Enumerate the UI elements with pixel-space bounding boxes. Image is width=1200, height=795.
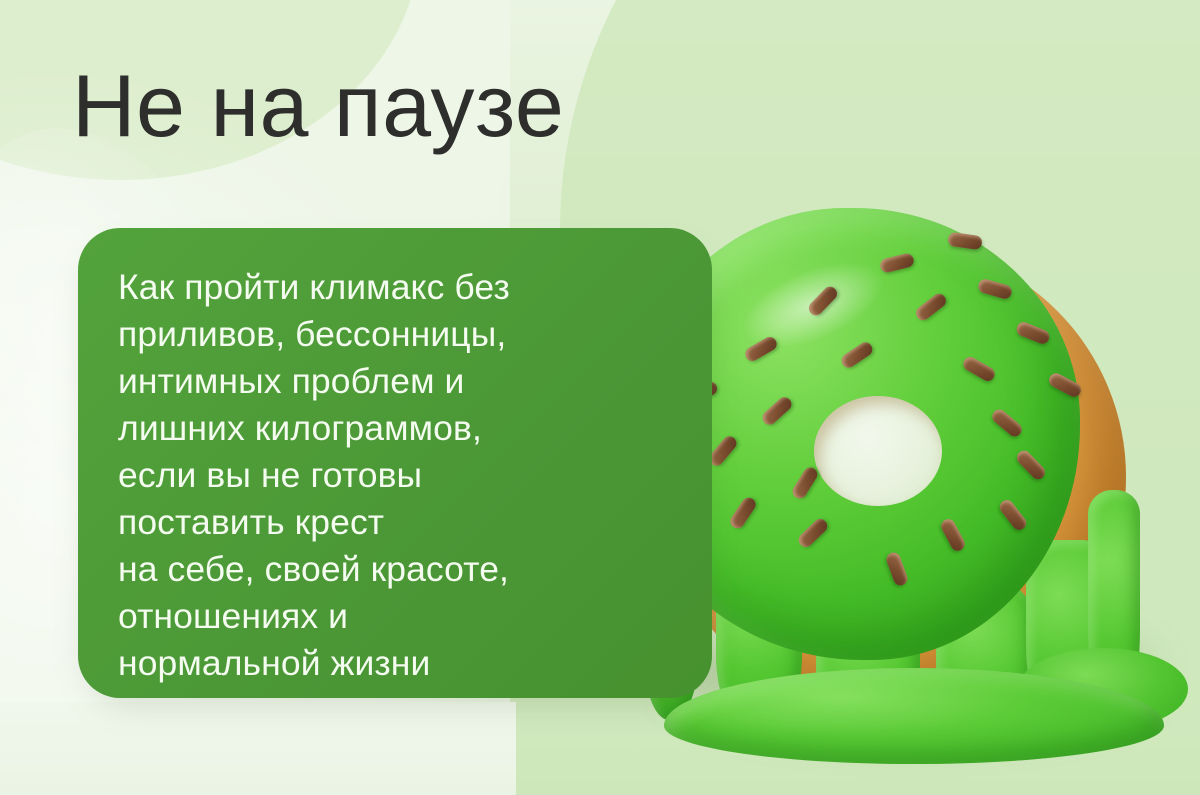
text-card-line: если вы не готовы xyxy=(118,452,684,499)
promo-banner: Не на паузе Как пройти климакс безприлив… xyxy=(0,0,1200,795)
text-card-line: отношениях и xyxy=(118,593,684,640)
text-card-line: интимных проблем и xyxy=(118,358,684,405)
text-card-line: приливов, бессонницы, xyxy=(118,311,684,358)
text-card-line: на себе, своей красоте, xyxy=(118,546,684,593)
page-title: Не на паузе xyxy=(72,62,564,150)
text-card-line: Как пройти климакс без xyxy=(118,264,684,311)
text-card-line: лишних килограммов, xyxy=(118,405,684,452)
text-card: Как пройти климакс безприливов, бессонни… xyxy=(78,228,712,698)
donut-hole xyxy=(814,396,942,506)
text-card-body: Как пройти климакс безприливов, бессонни… xyxy=(118,264,684,687)
text-card-line: нормальной жизни xyxy=(118,640,684,687)
text-card-line: поставить крест xyxy=(118,499,684,546)
background-bottom-left-strip xyxy=(0,702,516,795)
